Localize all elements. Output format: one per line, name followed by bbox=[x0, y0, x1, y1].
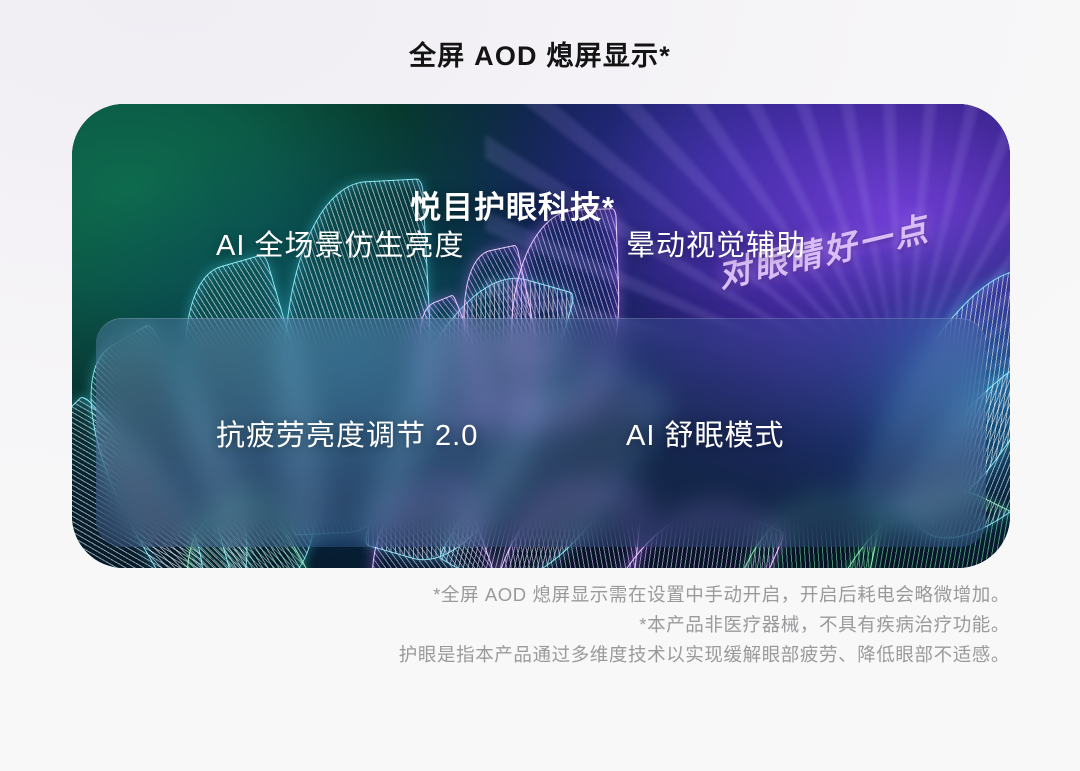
feature-list: AI 全场景仿生亮度 晕动视觉辅助 抗疲劳亮度调节 2.0 AI 舒眠模式 bbox=[72, 104, 1010, 568]
footnote-line: 护眼是指本产品通过多维度技术以实现缓解眼部疲劳、降低眼部不适感。 bbox=[72, 640, 1010, 670]
feature-item: AI 全场景仿生亮度 bbox=[216, 222, 626, 264]
page-title: 全屏 AOD 熄屏显示* bbox=[0, 34, 1080, 73]
footnote-block: *全屏 AOD 熄屏显示需在设置中手动开启，开启后耗电会略微增加。 *本产品非医… bbox=[72, 580, 1010, 670]
footnote-line: *全屏 AOD 熄屏显示需在设置中手动开启，开启后耗电会略微增加。 bbox=[72, 580, 1010, 610]
feature-item: 晕动视觉辅助 bbox=[626, 222, 1010, 264]
footnote-line: *本产品非医疗器械，不具有疾病治疗功能。 bbox=[72, 610, 1010, 640]
hero-banner: 悦目护眼科技* 对眼睛好一点 AI 全场景仿生亮度 晕动视觉辅助 抗疲劳亮度调节… bbox=[72, 104, 1010, 568]
feature-item: AI 舒眠模式 bbox=[626, 412, 1010, 454]
feature-item: 抗疲劳亮度调节 2.0 bbox=[216, 412, 626, 454]
